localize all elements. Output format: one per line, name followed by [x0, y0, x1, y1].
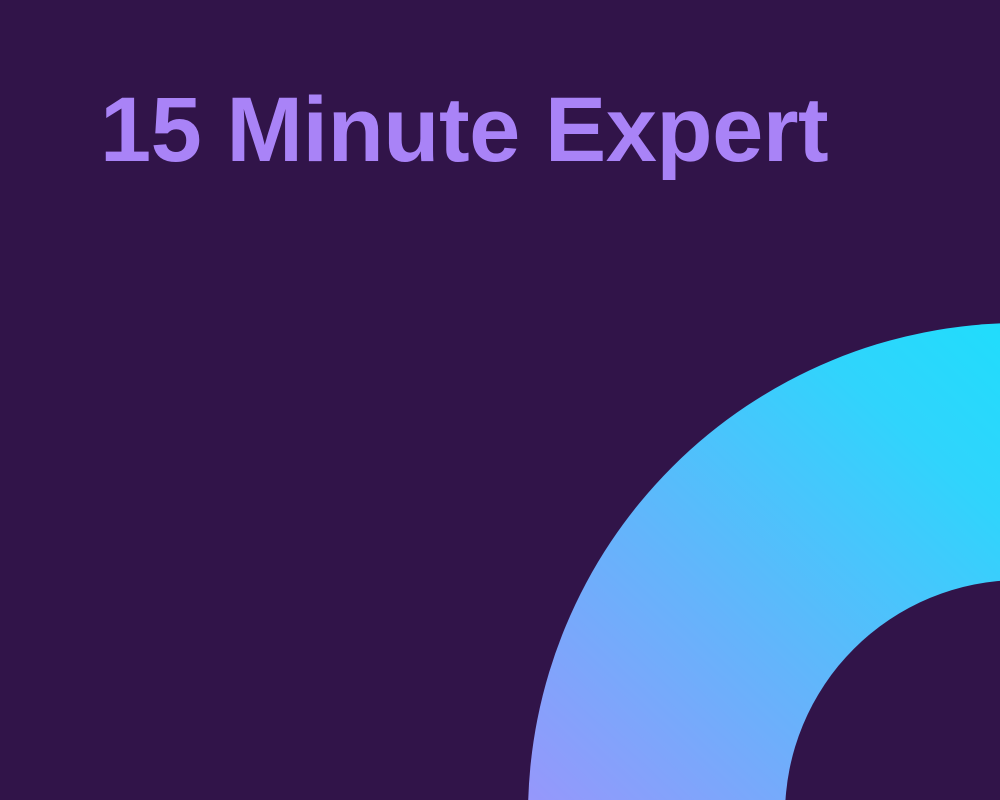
slide-canvas: 15 Minute Expert [0, 0, 1000, 800]
title-block: 15 Minute Expert [100, 82, 920, 179]
page-title: 15 Minute Expert [100, 82, 920, 179]
